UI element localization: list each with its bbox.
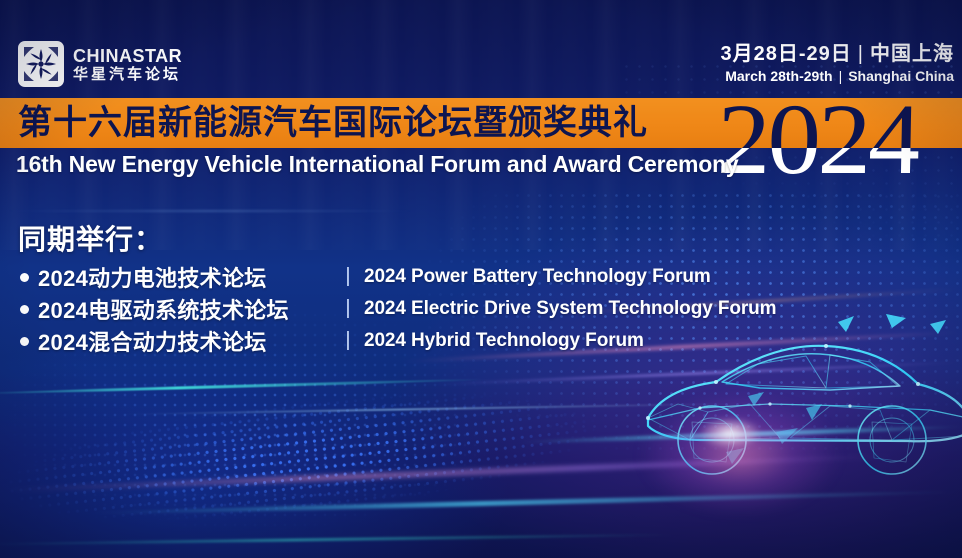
event-poster: CHINASTAR 华星汽车论坛 3月28日-29日|中国上海 March 28… [0, 0, 962, 558]
date-separator-en: | [833, 67, 849, 85]
brand-logo[interactable]: CHINASTAR 华星汽车论坛 [18, 41, 182, 87]
light-streak [0, 453, 900, 494]
list-item: 2024混合动力技术论坛 | 2024 Hybrid Technology Fo… [20, 326, 840, 355]
forum-name-cn: 2024电驱动系统技术论坛 [38, 293, 338, 325]
event-location-en: Shanghai China [848, 68, 954, 84]
pink-glow [640, 395, 840, 515]
brand-name-cn: 华星汽车论坛 [73, 67, 182, 82]
forum-name-cn: 2024动力电池技术论坛 [38, 261, 338, 293]
event-date-cn: 3月28日-29日 [721, 43, 852, 65]
glow-core [700, 418, 760, 448]
star-burst-logo-icon [18, 41, 64, 87]
forum-divider: | [338, 265, 358, 288]
light-streak [430, 361, 962, 386]
light-streak [0, 533, 680, 546]
light-streak [120, 403, 740, 416]
event-date-location: 3月28日-29日|中国上海 March 28th-29th|Shanghai … [721, 42, 954, 85]
year-display: 2024 2024 [718, 93, 962, 185]
forum-name-en: 2024 Electric Drive System Technology Fo… [364, 298, 776, 320]
date-separator-cn: | [852, 42, 870, 67]
list-item: 2024电驱动系统技术论坛 | 2024 Electric Drive Syst… [20, 294, 840, 323]
concurrent-heading: 同期举行： [18, 218, 163, 258]
forum-divider: | [338, 329, 358, 352]
event-date-en: March 28th-29th [725, 68, 832, 84]
forum-divider: | [338, 297, 358, 320]
page-title-cn: 第十六届新能源汽车国际论坛暨颁奖典礼 [18, 100, 648, 146]
light-streak [0, 210, 420, 212]
light-streak [520, 424, 962, 444]
page-title-en: 16th New Energy Vehicle International Fo… [16, 148, 739, 180]
list-item: 2024动力电池技术论坛 | 2024 Power Battery Techno… [20, 262, 840, 291]
bullet-icon [20, 305, 29, 314]
event-location-cn: 中国上海 [870, 43, 954, 65]
light-streak [90, 489, 960, 515]
forum-name-en: 2024 Power Battery Technology Forum [364, 266, 711, 288]
forum-name-en: 2024 Hybrid Technology Forum [364, 330, 644, 352]
forum-name-cn: 2024混合动力技术论坛 [38, 325, 338, 357]
brand-name-en: CHINASTAR [73, 47, 182, 65]
bullet-icon [20, 273, 29, 282]
light-streak [0, 378, 490, 396]
concurrent-forum-list: 2024动力电池技术论坛 | 2024 Power Battery Techno… [20, 262, 840, 358]
bullet-icon [20, 337, 29, 346]
